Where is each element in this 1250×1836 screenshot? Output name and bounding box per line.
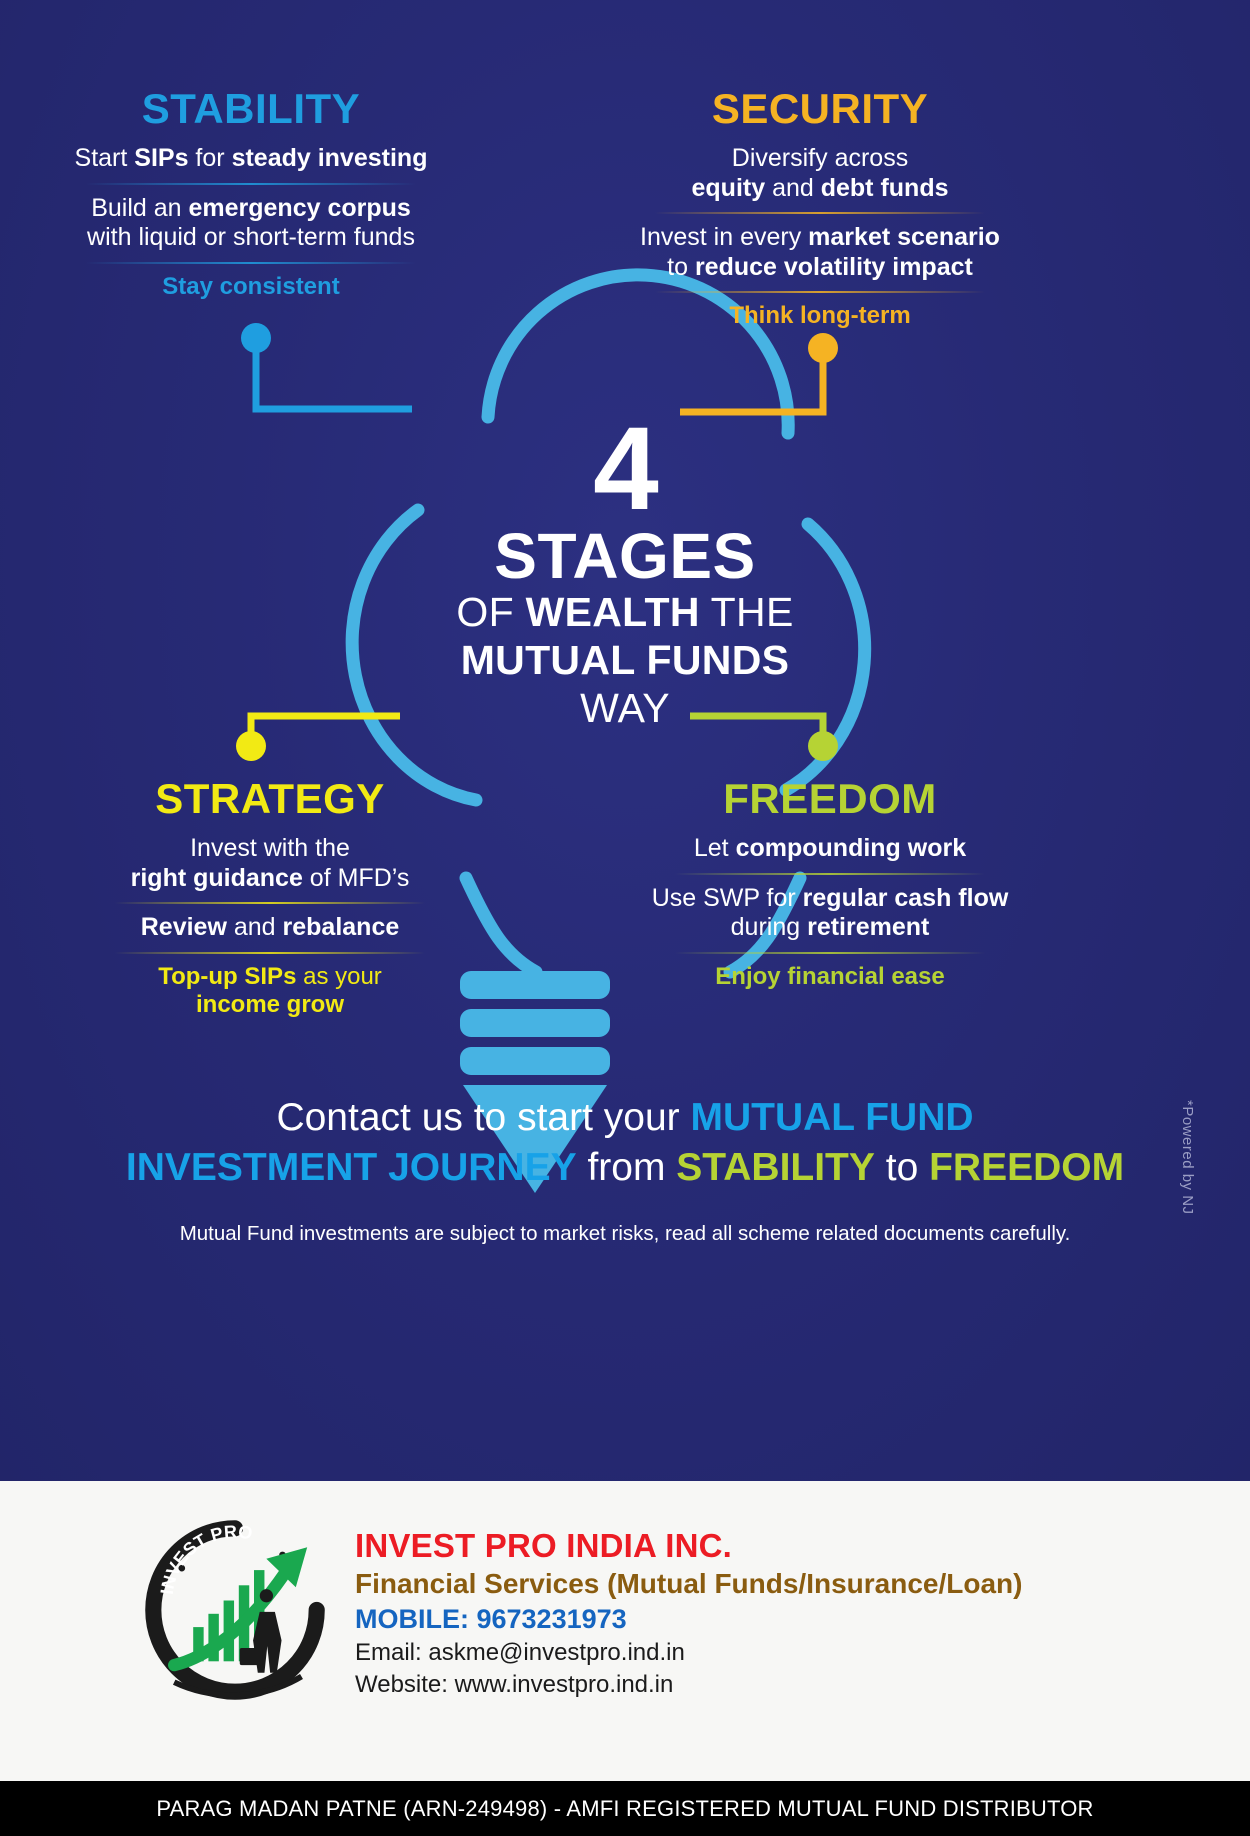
strategy-tag-b: Top-up SIPs: [158, 963, 296, 990]
quadrant-strategy: STRATEGY Invest with theright guidance o…: [80, 778, 460, 1019]
security-divider-1: [655, 212, 985, 214]
strategy-point-1: Invest with theright guidance of MFD’s: [80, 834, 460, 893]
stability-title: STABILITY: [36, 88, 466, 130]
cta-part-7: FREEDOM: [929, 1146, 1124, 1189]
stability-p1-b1: SIPs: [134, 144, 188, 172]
company-website[interactable]: Website: www.investpro.ind.in: [355, 1669, 1022, 1701]
security-p2-b1: market scenario: [808, 223, 1000, 251]
freedom-title: FREEDOM: [630, 778, 1030, 820]
security-p2-pre: Invest in every: [640, 223, 808, 251]
freedom-divider-2: [675, 952, 985, 954]
disclaimer-text: Mutual Fund investments are subject to m…: [40, 1222, 1210, 1246]
bulb-base-bar-2: [460, 1009, 610, 1037]
strategy-tag-line2: income grow: [196, 991, 344, 1018]
security-point-1: Diversify acrossequity and debt funds: [600, 144, 1040, 203]
center-mutual-funds: MUTUAL FUNDS: [325, 636, 925, 684]
strategy-p1-line1: Invest with the: [190, 834, 350, 862]
freedom-point-2: Use SWP for regular cash flowduring reti…: [630, 884, 1030, 943]
center-way: WAY: [325, 684, 925, 732]
invest-pro-logo: INVEST PRO: [140, 1515, 330, 1705]
freedom-p1-b1: compounding work: [736, 834, 967, 862]
security-p1-line1: Diversify across: [732, 144, 908, 172]
distributor-bar: PARAG MADAN PATNE (ARN-249498) - AMFI RE…: [0, 1781, 1250, 1836]
stability-p2-pre: Build an: [91, 194, 188, 222]
footer-panel: INVEST PRO INVEST PRO INDIA INC. Financi…: [0, 1481, 1250, 1781]
center-stages: STAGES: [325, 524, 925, 588]
stability-point-2: Build an emergency corpuswith liquid or …: [36, 194, 466, 253]
stability-point-1: Start SIPs for steady investing: [36, 144, 466, 174]
freedom-point-1: Let compounding work: [630, 834, 1030, 864]
cta-part-5: STABILITY: [676, 1146, 875, 1189]
security-p1-b1: equity: [692, 174, 766, 202]
powered-by-label: *Powered by NJ: [1179, 1100, 1196, 1215]
stability-divider-1: [86, 183, 416, 185]
strategy-divider-2: [115, 952, 425, 954]
bulb-base-bar-1: [460, 971, 610, 999]
center-number: 4: [325, 415, 925, 524]
cta-part-6: to: [875, 1146, 929, 1189]
bulb-neck-left: [466, 878, 536, 972]
freedom-p2-l2pre: during: [731, 913, 807, 941]
stability-p1-mid: for: [188, 144, 231, 172]
security-connector-line: [680, 355, 823, 412]
strategy-tagline: Top-up SIPs as yourincome grow: [80, 963, 460, 1019]
stability-p1-pre: Start: [75, 144, 135, 172]
security-title: SECURITY: [600, 88, 1040, 130]
company-name: INVEST PRO INDIA INC.: [355, 1527, 1022, 1566]
quadrant-security: SECURITY Diversify acrossequity and debt…: [600, 88, 1040, 330]
stability-divider-2: [86, 262, 416, 264]
freedom-p2-l2b: retirement: [807, 913, 929, 941]
security-p1-b2: debt funds: [821, 174, 949, 202]
strategy-p1-mid: of MFD’s: [303, 864, 410, 892]
center-the: THE: [700, 589, 794, 635]
company-mobile[interactable]: MOBILE: 9673231973: [355, 1602, 1022, 1637]
cta-part-1: Contact us to start your: [276, 1096, 690, 1139]
freedom-tagline: Enjoy financial ease: [630, 963, 1030, 991]
cta-part-4: from: [577, 1146, 677, 1189]
company-details: INVEST PRO INDIA INC. Financial Services…: [355, 1527, 1022, 1701]
strategy-p2-b2: rebalance: [283, 913, 400, 941]
quadrant-stability: STABILITY Start SIPs for steady investin…: [36, 88, 466, 301]
company-services: Financial Services (Mutual Funds/Insuran…: [355, 1566, 1022, 1602]
infographic-poster: 4 STAGES OF WEALTH THE MUTUAL FUNDS WAY …: [0, 0, 1250, 1836]
freedom-p2-b1: regular cash flow: [803, 884, 1009, 912]
quadrant-freedom: FREEDOM Let compounding work Use SWP for…: [630, 778, 1030, 991]
freedom-p2-pre: Use SWP for: [652, 884, 803, 912]
cta-part-2: MUTUAL FUND: [690, 1096, 973, 1139]
distributor-text: PARAG MADAN PATNE (ARN-249498) - AMFI RE…: [156, 1796, 1093, 1822]
bulb-base-bar-3: [460, 1047, 610, 1075]
security-p1-mid: and: [765, 174, 821, 202]
stability-connector-line: [256, 345, 412, 409]
freedom-divider-1: [675, 873, 985, 875]
strategy-title: STRATEGY: [80, 778, 460, 820]
stability-p2-line2: with liquid or short-term funds: [87, 223, 415, 251]
cta-block: Contact us to start your MUTUAL FUND INV…: [60, 1093, 1190, 1193]
center-title-block: 4 STAGES OF WEALTH THE MUTUAL FUNDS WAY: [325, 415, 925, 733]
cta-part-3: INVESTMENT JOURNEY: [126, 1146, 577, 1189]
stability-tagline: Stay consistent: [36, 273, 466, 301]
strategy-tag-rest: as your: [296, 963, 381, 990]
strategy-p2-mid: and: [227, 913, 283, 941]
security-point-2: Invest in every market scenarioto reduce…: [600, 223, 1040, 282]
security-p2-l2b: reduce volatility impact: [695, 253, 973, 281]
security-p2-l2pre: to: [667, 253, 695, 281]
stability-p1-b2: steady investing: [232, 144, 428, 172]
company-email[interactable]: Email: askme@investpro.ind.in: [355, 1637, 1022, 1669]
center-of: OF: [456, 589, 525, 635]
strategy-point-2: Review and rebalance: [80, 913, 460, 943]
stability-p2-b1: emergency corpus: [188, 194, 410, 222]
center-wealth: WEALTH: [526, 589, 700, 635]
security-divider-2: [655, 291, 985, 293]
security-tagline: Think long-term: [600, 302, 1040, 330]
strategy-divider-1: [115, 902, 425, 904]
strategy-p2-b1: Review: [141, 913, 227, 941]
center-subline-1: OF WEALTH THE: [325, 588, 925, 636]
strategy-p1-b1: right guidance: [131, 864, 303, 892]
freedom-p1-pre: Let: [694, 834, 736, 862]
